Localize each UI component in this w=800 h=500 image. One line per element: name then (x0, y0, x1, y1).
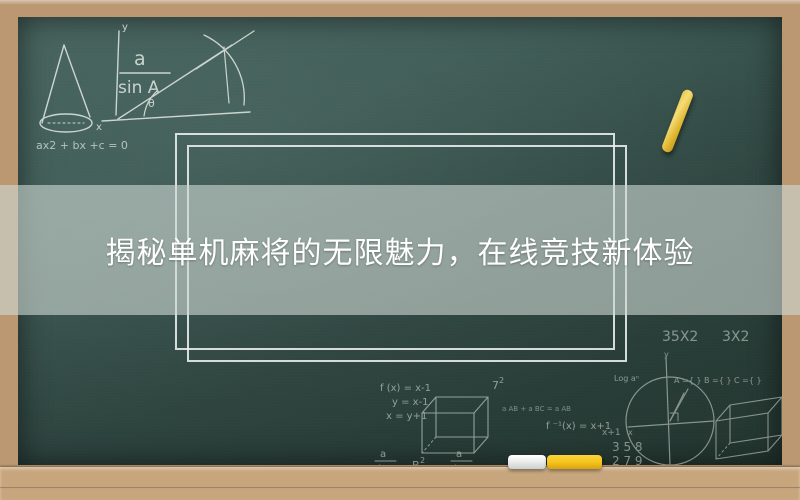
svg-text:y = x-1: y = x-1 (392, 397, 429, 408)
svg-text:35X2: 35X2 (662, 329, 698, 345)
svg-text:3 5 8: 3 5 8 (612, 440, 643, 454)
svg-text:θ: θ (148, 97, 155, 110)
svg-text:2 7 9: 2 7 9 (612, 454, 643, 465)
svg-text:x = y+1: x = y+1 (386, 411, 427, 422)
svg-text:Log aⁿ: Log aⁿ (614, 374, 639, 383)
svg-text:x: x (96, 122, 102, 133)
svg-text:B: B (412, 459, 420, 465)
svg-text:a: a (380, 449, 386, 460)
svg-text:2: 2 (420, 456, 425, 465)
svg-text:y: y (122, 22, 128, 33)
svg-text:sin A: sin A (373, 464, 398, 465)
svg-text:2: 2 (499, 376, 504, 385)
chalk-ledge (0, 467, 800, 500)
chalk-stick-white-ledge (508, 455, 546, 469)
svg-text:a AB + a BC = a AB: a AB + a BC = a AB (502, 405, 571, 413)
svg-text:sin A: sin A (449, 464, 474, 465)
svg-text:y: y (664, 350, 669, 359)
chalk-stick-yellow-ledge (547, 455, 602, 469)
svg-text:a: a (134, 48, 146, 70)
svg-text:x+1: x+1 (602, 428, 621, 438)
svg-text:x: x (628, 428, 633, 437)
chalkboard-banner: a sin A ax2 + bx +c = 0 y x θ (0, 0, 800, 500)
frame-top-highlight (0, 0, 800, 5)
ledge-edge-line (0, 487, 800, 489)
svg-text:a: a (456, 449, 462, 460)
page-title: 揭秘单机麻将的无限魅力，在线竞技新体验 (0, 185, 800, 315)
svg-text:ax2 + bx +c = 0: ax2 + bx +c = 0 (36, 139, 128, 152)
svg-text:3X2: 3X2 (722, 329, 749, 345)
svg-text:f (x) = x-1: f (x) = x-1 (380, 383, 431, 394)
svg-text:7: 7 (492, 379, 499, 392)
